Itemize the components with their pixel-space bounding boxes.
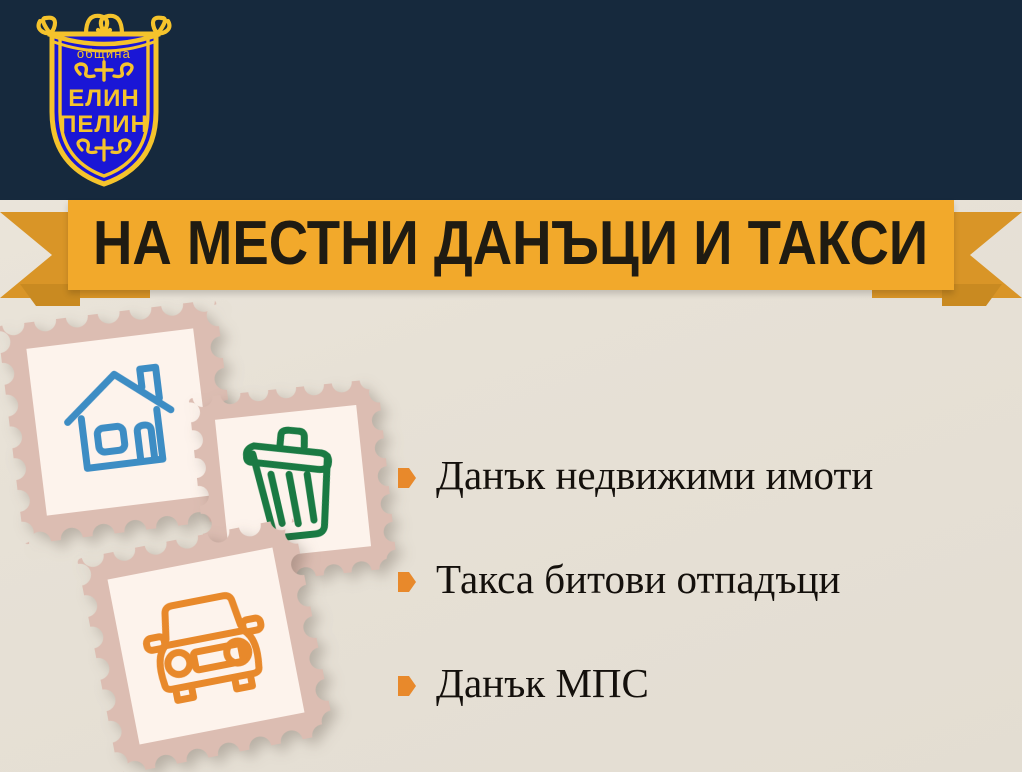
stamp-card-vehicle: [77, 517, 335, 772]
arrow-bullet-icon: [398, 674, 416, 698]
list-item[interactable]: Такса битови отпадъци: [398, 528, 1008, 632]
list-item[interactable]: Данък МПС: [398, 632, 1008, 736]
stamp-paper: [108, 548, 305, 745]
poster-canvas: ПРОВЕРКА И ПЛАЩАНЕ НА ЗАДЪЛЖЕНИЯ община: [0, 0, 1022, 772]
stamp-paper: [26, 328, 213, 515]
municipality-crest-logo: община ЕЛИН ПЕЛИН: [24, 8, 184, 190]
list-item-label: Такса битови отпадъци: [436, 558, 840, 601]
crest-text-obshtina: община: [77, 46, 131, 61]
list-item-label: Данък недвижими имоти: [436, 454, 873, 497]
list-item-label: Данък МПС: [436, 662, 649, 705]
tax-types-list: Данък недвижими имоти Такса битови отпад…: [398, 424, 1008, 736]
arrow-bullet-icon: [398, 466, 416, 490]
arrow-bullet-icon: [398, 570, 416, 594]
crest-text-elin: ЕЛИН: [68, 85, 139, 112]
crest-text-pelin: ПЕЛИН: [59, 111, 149, 138]
subtitle-ribbon: НА МЕСТНИ ДАНЪЦИ И ТАКСИ: [0, 196, 1022, 306]
list-item[interactable]: Данък недвижими имоти: [398, 424, 1008, 528]
ribbon-main-panel: НА МЕСТНИ ДАНЪЦИ И ТАКСИ: [68, 200, 954, 290]
ribbon-label: НА МЕСТНИ ДАНЪЦИ И ТАКСИ: [93, 213, 928, 277]
